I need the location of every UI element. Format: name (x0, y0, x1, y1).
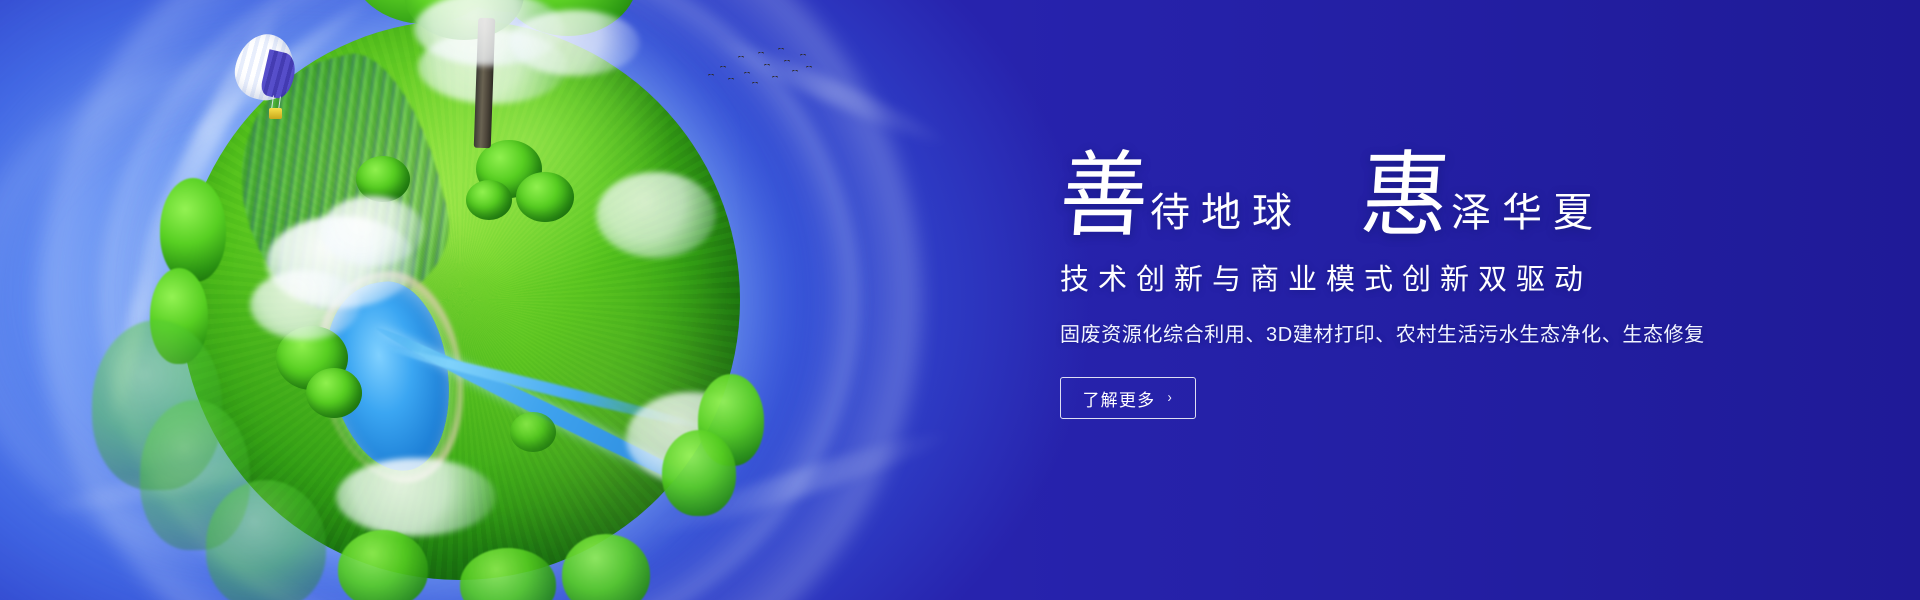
globe-bush (356, 156, 410, 202)
large-tree (330, 0, 630, 144)
headline: 善 待地球 惠 泽华夏 (1060, 138, 1820, 242)
learn-more-button[interactable]: 了解更多 › (1060, 377, 1196, 419)
globe-rim-tree (698, 374, 764, 466)
chevron-right-icon: › (1168, 390, 1173, 405)
headline-small-text-1: 待地球 (1150, 193, 1303, 239)
globe-cloud (336, 458, 496, 536)
bird-icon (720, 66, 725, 69)
cloud-wisp-3 (172, 0, 388, 156)
tree-canopy (498, 0, 638, 36)
bird-icon (778, 48, 783, 51)
globe-bush (516, 172, 574, 222)
bird-icon (738, 56, 743, 59)
bird-icon (708, 74, 713, 77)
balloon-envelope (229, 28, 300, 105)
tree-canopy (404, 0, 524, 40)
globe-cloud (418, 30, 568, 104)
balloon-basket (269, 108, 282, 119)
balloon-stripe (259, 49, 299, 101)
globe-bush (476, 140, 542, 198)
bird-icon (806, 66, 811, 69)
globe-cloud (626, 392, 740, 484)
bird-icon (800, 54, 805, 57)
bird-icon (764, 64, 769, 67)
lake-shoreline (306, 263, 476, 493)
tree-canopy (350, 0, 500, 24)
subtitle: 技术创新与商业模式创新双驱动 (1060, 256, 1820, 298)
globe-cloud (596, 172, 716, 258)
bird-icon (728, 78, 733, 81)
learn-more-label: 了解更多 (1082, 386, 1155, 411)
tree-mist (510, 10, 640, 76)
headline-small-text-2: 泽华夏 (1451, 193, 1604, 239)
globe-bush (510, 412, 556, 452)
tree-mist (414, 0, 564, 66)
hot-air-balloon (236, 34, 298, 126)
headline-big-char-1: 善 (1057, 151, 1152, 244)
balloon-ropes (271, 96, 281, 111)
globe-bush (466, 180, 512, 220)
bird-icon (784, 60, 789, 63)
headline-segment-2: 惠 泽华夏 (1361, 154, 1604, 242)
description: 固废资源化综合利用、3D建材打印、农村生活污水生态净化、生态修复 (1060, 318, 1820, 347)
cloud-wisp-5 (644, 421, 956, 545)
cloud-wisp-4 (707, 28, 953, 154)
bird-flock (706, 44, 816, 94)
globe-bush (276, 326, 348, 390)
bird-icon (744, 72, 749, 75)
globe-cloud (250, 270, 360, 340)
globe-rim-tree (160, 178, 226, 282)
bird-icon (758, 52, 763, 55)
tree-trunk (474, 18, 496, 149)
globe-rim-tree (662, 430, 736, 516)
sky-haze (0, 0, 740, 600)
globe-cloud (320, 196, 424, 266)
tree-canopy (426, 0, 594, 12)
globe-river-branch (385, 342, 708, 433)
bird-icon (792, 70, 797, 73)
bird-icon (772, 76, 777, 79)
globe-lake (317, 275, 460, 480)
headline-big-char-2: 惠 (1358, 151, 1453, 244)
globe-mountain-ridge (215, 40, 466, 330)
hero-banner: 善 待地球 惠 泽华夏 技术创新与商业模式创新双驱动 固废资源化综合利用、3D建… (0, 0, 1920, 600)
headline-segment-1: 善 待地球 (1060, 154, 1303, 242)
bird-icon (752, 82, 757, 85)
globe-rim-tree (562, 534, 650, 600)
globe-river (372, 321, 740, 519)
banner-content: 善 待地球 惠 泽华夏 技术创新与商业模式创新双驱动 固废资源化综合利用、3D建… (1060, 138, 1820, 419)
cloud-wisp-1 (128, 0, 292, 272)
foreground-tree (206, 480, 326, 600)
globe-bush (306, 368, 362, 418)
globe-cloud (266, 216, 416, 308)
globe-rim-tree (460, 548, 556, 600)
globe-rim-tree (338, 530, 428, 600)
